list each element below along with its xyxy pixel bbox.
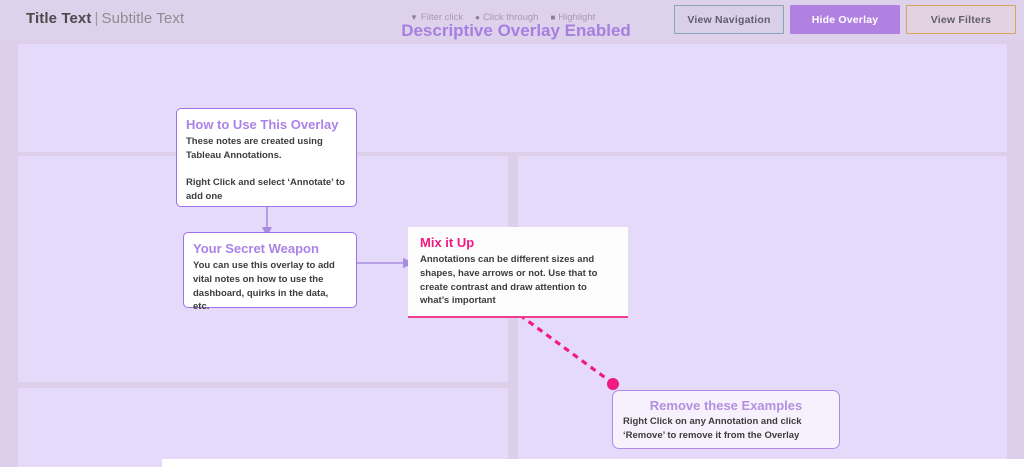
overlay-status-text: Descriptive Overlay Enabled — [386, 21, 646, 41]
annotation-body: Right Click on any Annotation and click … — [623, 415, 829, 443]
annotation-mix-it-up[interactable]: Mix it Up Annotations can be different s… — [408, 227, 628, 318]
annotation-title: Mix it Up — [420, 235, 618, 250]
annotation-how-to-use-overlay[interactable]: How to Use This Overlay These notes are … — [176, 108, 357, 207]
hide-overlay-button[interactable]: Hide Overlay — [790, 5, 900, 34]
title-subtitle: Subtitle Text — [101, 10, 184, 27]
title-separator: | — [91, 10, 101, 27]
view-navigation-button[interactable]: View Navigation — [674, 5, 784, 34]
annotation-remove-these-examples[interactable]: Remove these Examples Right Click on any… — [612, 390, 840, 449]
annotation-title: Remove these Examples — [623, 398, 829, 413]
annotation-title: How to Use This Overlay — [186, 117, 347, 132]
dashboard-root: Title Text|Subtitle Text ▼ Filter click … — [0, 0, 1024, 467]
panel-top[interactable] — [18, 44, 1007, 152]
page-title: Title Text|Subtitle Text — [26, 10, 184, 27]
title-main: Title Text — [26, 10, 91, 27]
annotation-title: Your Secret Weapon — [193, 241, 347, 256]
header-button-group: View Navigation Hide Overlay View Filter… — [674, 5, 1016, 34]
bottom-white-strip — [162, 459, 1024, 467]
annotation-body: These notes are created using Tableau An… — [186, 135, 347, 204]
dashboard-header: Title Text|Subtitle Text ▼ Filter click … — [0, 0, 1024, 40]
annotation-body: You can use this overlay to add vital no… — [193, 259, 347, 314]
panel-bottom-left[interactable] — [18, 388, 508, 467]
annotation-your-secret-weapon[interactable]: Your Secret Weapon You can use this over… — [183, 232, 357, 308]
annotation-body: Annotations can be different sizes and s… — [420, 253, 618, 308]
view-filters-button[interactable]: View Filters — [906, 5, 1016, 34]
